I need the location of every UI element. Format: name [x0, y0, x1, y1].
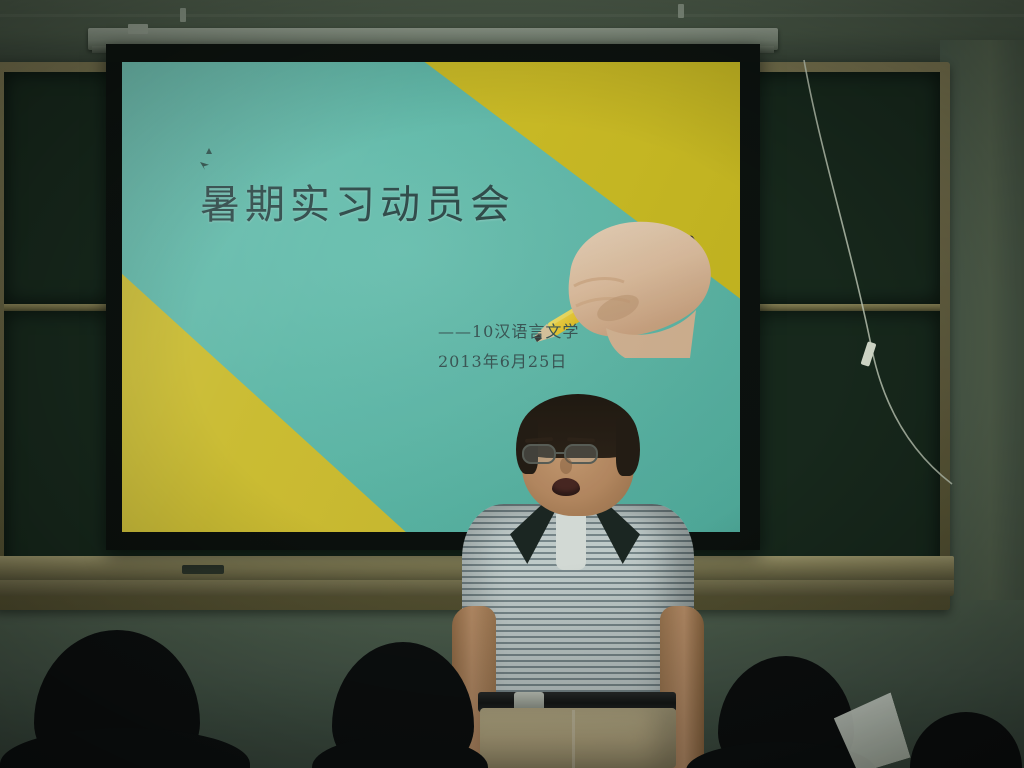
- audience-head: [910, 712, 1022, 768]
- presenter-trousers: [480, 708, 676, 768]
- housing-nub-right: [678, 4, 684, 18]
- wall-seam: [0, 14, 1024, 17]
- presenter-nose: [560, 458, 572, 474]
- slide-subtitle-line-1: ——10汉语言文学: [438, 317, 579, 347]
- screen-top-bar: [106, 44, 760, 62]
- housing-nub-left: [180, 8, 186, 22]
- audience-member-center: [318, 628, 498, 768]
- wall-right-strip: [940, 40, 1024, 640]
- slide-subtitle-line-2: 2013年6月25日: [438, 347, 579, 377]
- classroom-photo: 暑期实习动员会 ——10汉语言文学 2013年6月25日: [0, 0, 1024, 768]
- presenter-shirt-placket: [556, 514, 586, 570]
- presenter-trouser-crease: [572, 710, 575, 768]
- slide-accent-triangle-bottom-left: [122, 272, 408, 532]
- eyeglasses-lens-left: [522, 444, 556, 464]
- audience-member-left: [0, 618, 260, 768]
- presenter-mouth: [552, 478, 580, 496]
- housing-bracket-left: [128, 24, 148, 34]
- eyeglasses-bridge: [556, 452, 566, 454]
- slide-title: 暑期实习动员会: [200, 172, 515, 230]
- cursor-artifact-caret-icon: [206, 148, 212, 154]
- blackboard-eraser: [182, 565, 224, 574]
- mouse-pointer-icon: [200, 162, 209, 170]
- slide-subtitle: ——10汉语言文学 2013年6月25日: [438, 317, 579, 378]
